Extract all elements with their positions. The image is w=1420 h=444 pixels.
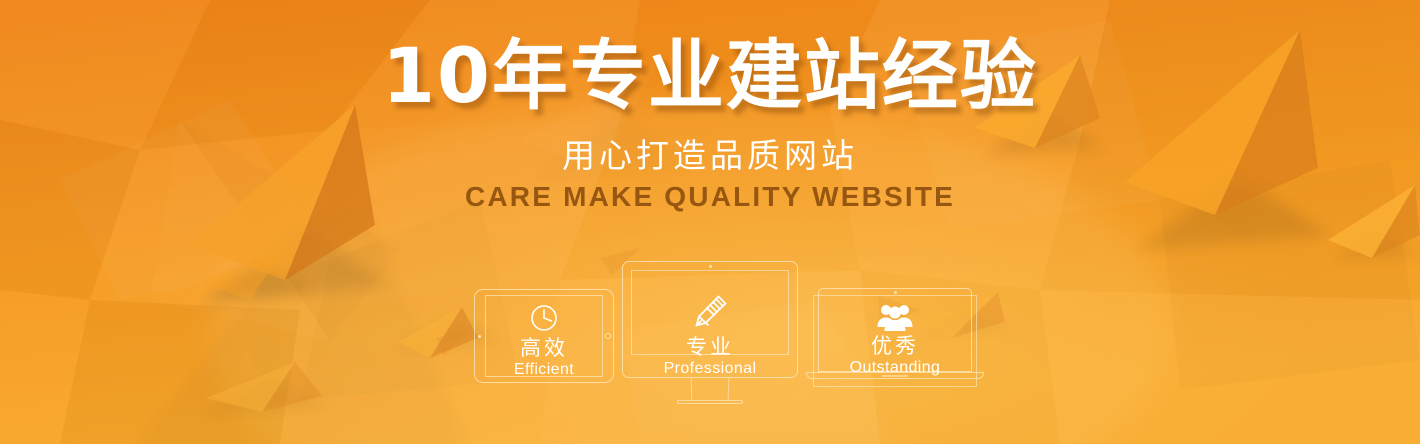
subtitle-english: CARE MAKE QUALITY WEBSITE (0, 182, 1420, 213)
feature-label-en: Efficient (474, 360, 614, 379)
monitor-camera-icon (709, 265, 712, 268)
feature-card-efficient[interactable]: 高效 Efficient (474, 289, 614, 383)
page-title: 10年专业建站经验 (0, 38, 1420, 114)
feature-card-professional[interactable]: 专业 Professional (622, 261, 798, 411)
feature-devices-group: 高效 Efficient (0, 250, 1420, 410)
feature-card-outstanding[interactable]: 优秀 Outstanding (806, 288, 984, 392)
monitor-stand-neck (691, 378, 730, 401)
feature-label-en: Professional (622, 359, 798, 378)
laptop-camera-icon (894, 291, 897, 294)
feature-label-cn: 高效 (474, 336, 614, 360)
headline-block: 10年专业建站经验 用心打造品质网站 CARE MAKE QUALITY WEB… (0, 38, 1420, 213)
feature-label-cn: 专业 (622, 335, 798, 359)
people-group-icon (876, 302, 914, 332)
feature-label-en: Outstanding (806, 358, 984, 377)
monitor-stand-base (677, 400, 743, 404)
subtitle-chinese: 用心打造品质网站 (0, 138, 1420, 174)
promo-banner: 10年专业建站经验 用心打造品质网站 CARE MAKE QUALITY WEB… (0, 0, 1420, 444)
pencil-icon (690, 291, 730, 331)
clock-icon (529, 303, 559, 333)
feature-label-cn: 优秀 (806, 334, 984, 358)
